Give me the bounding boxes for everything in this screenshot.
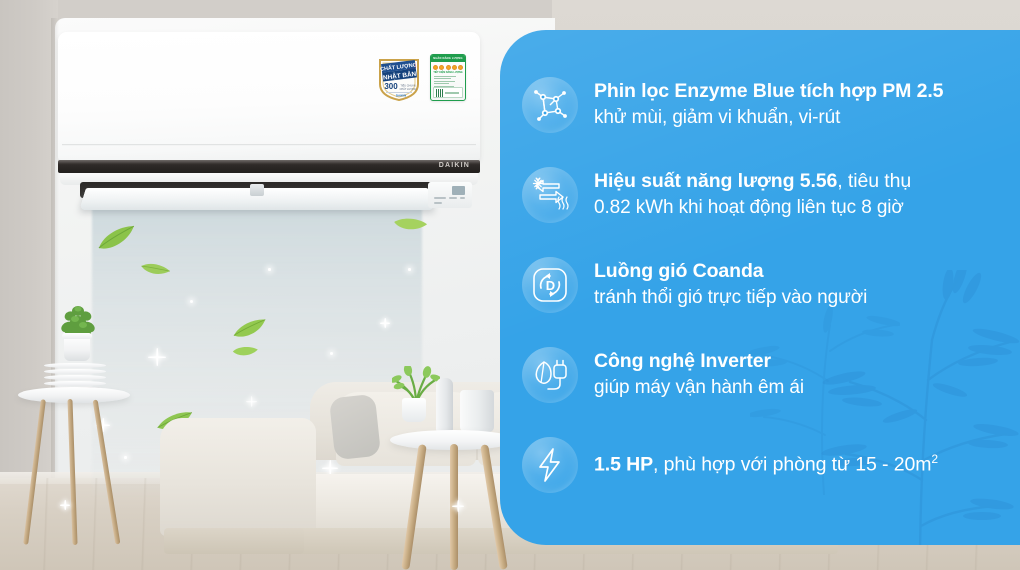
feature-subtitle: khử mùi, giảm vi khuẩn, vi-rút [594,106,943,131]
energy-label-header-text: NHÃN NĂNG LƯỢNG [433,57,462,60]
feature-capacity-superscript: 2 [931,452,938,466]
coanda-airflow-icon: D [522,257,578,313]
feature-capacity-value: 1.5 HP [594,454,653,476]
plant-pot-right [402,398,426,422]
feature-title-strong: Hiệu suất năng lượng 5.56 [594,170,837,192]
star-5 [458,65,463,70]
energy-label-header: NHÃN NĂNG LƯỢNG [431,55,465,62]
energy-star-rating [431,65,465,70]
feature-capacity-line: 1.5 HP, phù hợp với phòng từ 15 - 20m2 [594,452,938,478]
feature-text: 1.5 HP, phù hợp với phòng từ 15 - 20m2 [594,452,938,478]
ac-display-panel [428,182,472,208]
feature-item-enzyme-filter: Phin lọc Enzyme Blue tích hợp PM 2.5 khử… [522,60,1020,150]
energy-label-spec-lines [434,76,462,87]
table-leg [23,399,46,545]
sparkle-dot [190,300,193,303]
sparkle [380,318,390,328]
star-3 [446,65,451,70]
table-leg [93,400,121,545]
energy-label-footer-lines [445,92,459,94]
sparkle-dot [268,268,271,271]
star-2 [439,65,444,70]
svg-text:CHẤT LƯỢNG: CHẤT LƯỢNG [400,88,417,91]
sparkle-dot [408,268,411,271]
tall-vase [436,378,453,432]
ac-seam-line [62,144,476,146]
air-conditioner-unit: CHẤT LƯỢNG NHẬT BẢN 300 TIÊU CHUẨN CHẤT … [58,32,480,204]
sparkle [60,500,70,510]
feature-item-capacity: 1.5 HP, phù hợp với phòng từ 15 - 20m2 [522,420,1020,510]
sparkle [148,348,166,366]
feature-subtitle: tránh thổi gió trực tiếp vào người [594,286,867,311]
ac-dark-accent-band [58,160,480,173]
molecule-filter-icon [522,77,578,133]
ac-louver-hinge [250,184,264,196]
leaf-plug-inverter-icon [522,347,578,403]
plant-pot-left [64,335,90,361]
feature-title: Luồng gió Coanda [594,259,867,284]
japan-quality-badge: CHẤT LƯỢNG NHẬT BẢN 300 TIÊU CHUẨN CHẤT … [376,54,422,102]
energy-label-footer [433,87,463,98]
feature-subtitle: giúp máy vận hành êm ái [594,376,804,401]
feature-text: Công nghệ Inverter giúp máy vận hành êm … [594,349,804,401]
svg-text:DAIKIN: DAIKIN [396,94,406,98]
svg-text:D: D [546,278,555,293]
energy-label-subtitle: TIẾT KIỆM NĂNG LƯỢNG [431,71,465,74]
sparkle [452,500,464,512]
table-leg [401,444,426,570]
feature-title-suffix: , tiêu thụ [837,170,911,192]
qr-code-icon [436,89,444,97]
sofa-throw-pillow [329,394,381,460]
feature-text: Hiệu suất năng lượng 5.56, tiêu thụ 0.82… [594,169,911,221]
lightning-bolt-icon [522,437,578,493]
sparkle-dot [330,352,333,355]
sofa-base-left [164,528,304,554]
feature-title: Phin lọc Enzyme Blue tích hợp PM 2.5 [594,79,943,104]
feature-capacity-rest: , phù hợp với phòng từ 15 - 20m [653,454,931,476]
wide-vase [460,390,494,432]
ac-brand-mark: DAIKIN [439,162,470,169]
feature-title: Hiệu suất năng lượng 5.56, tiêu thụ [594,169,911,194]
table-leg [67,399,77,545]
feature-text: Phin lọc Enzyme Blue tích hợp PM 2.5 khử… [594,79,943,131]
star-4 [452,65,457,70]
feature-item-energy-efficiency: Hiệu suất năng lượng 5.56, tiêu thụ 0.82… [522,150,1020,240]
feature-title: Công nghệ Inverter [594,349,804,374]
star-1 [433,65,438,70]
svg-text:300: 300 [384,82,398,91]
feature-list: Phin lọc Enzyme Blue tích hợp PM 2.5 khử… [500,30,1020,510]
feature-text: Luồng gió Coanda tránh thổi gió trực tiế… [594,259,867,311]
feature-panel: Phin lọc Enzyme Blue tích hợp PM 2.5 khử… [500,30,1020,545]
feature-subtitle: 0.82 kWh khi hoạt động liên tục 8 giờ [594,196,911,221]
snowflake-heat-exchange-icon [522,167,578,223]
sofa-arm-left [160,418,316,536]
product-feature-banner: CHẤT LƯỢNG NHẬT BẢN 300 TIÊU CHUẨN CHẤT … [0,0,1020,570]
tripod-side-table-left [18,355,130,545]
side-table-top-left [18,387,130,403]
feature-item-coanda-airflow: D Luồng gió Coanda tránh thổi gió trực t… [522,240,1020,330]
feature-item-inverter: Công nghệ Inverter giúp máy vận hành êm … [522,330,1020,420]
energy-rating-label: NHÃN NĂNG LƯỢNG TIẾT KIỆM NĂNG LƯỢNG [430,54,466,101]
